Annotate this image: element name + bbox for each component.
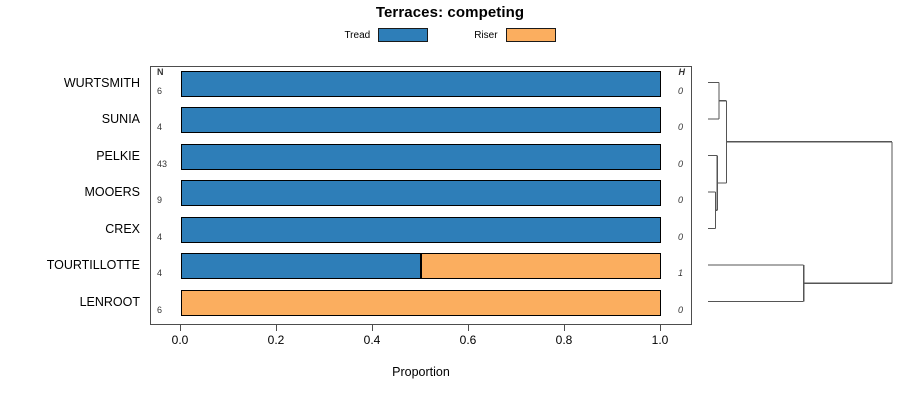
x-axis: 0.00.20.40.60.81.0 [150,325,692,349]
bar-segment-tread[interactable] [181,71,661,97]
h-value: 0 [678,232,683,242]
bar-row[interactable] [181,144,661,170]
category-label-wurtsmith: WURTSMITH [64,76,140,89]
bar-segment-tread[interactable] [181,144,661,170]
n-value: 6 [157,86,179,96]
chart-figure: Terraces: competing TreadRiser WURTSMITH… [0,0,900,400]
legend-item-tread[interactable]: Tread [344,28,428,42]
x-tick-mark [180,325,181,331]
bar-segment-tread[interactable] [181,253,421,279]
n-value: 4 [157,122,179,132]
chart-title: Terraces: competing [0,4,900,21]
h-value: 0 [678,86,683,96]
legend-label: Tread [344,30,370,41]
bar-row[interactable] [181,107,661,133]
legend-swatch [378,28,428,42]
x-tick-mark [660,325,661,331]
bar-row[interactable] [181,217,661,243]
category-label-sunia: SUNIA [102,113,140,126]
bar-segment-riser[interactable] [181,290,661,316]
bar-segment-tread[interactable] [181,107,661,133]
bar-row[interactable] [181,180,661,206]
x-tick-mark [276,325,277,331]
h-value: 0 [678,122,683,132]
x-tick-label: 0.6 [460,333,477,347]
x-tick-mark [372,325,373,331]
category-axis-labels: WURTSMITHSUNIAPELKIEMOOERSCREXTOURTILLOT… [0,66,146,325]
category-label-lenroot: LENROOT [80,295,140,308]
h-column-header: H [679,67,686,77]
legend-label: Riser [474,30,497,41]
bar-row[interactable] [181,253,661,279]
h-value: 0 [678,305,683,315]
h-value: 1 [678,268,683,278]
n-value: 43 [157,159,179,169]
plot-panel: NH604043090404160 [150,66,692,325]
h-value: 0 [678,159,683,169]
bar-row[interactable] [181,71,661,97]
category-label-mooers: MOOERS [84,186,140,199]
chart-legend: TreadRiser [0,28,900,42]
x-tick-mark [564,325,565,331]
category-label-crex: CREX [105,222,140,235]
h-value: 0 [678,195,683,205]
x-tick-label: 0.0 [172,333,189,347]
x-tick-label: 1.0 [652,333,669,347]
x-tick-label: 0.8 [556,333,573,347]
category-label-tourtillotte: TOURTILLOTTE [47,259,140,272]
x-tick-label: 0.2 [268,333,285,347]
x-axis-label: Proportion [150,365,692,379]
n-value: 6 [157,305,179,315]
bar-row[interactable] [181,290,661,316]
category-label-pelkie: PELKIE [96,149,140,162]
n-column-header: N [157,67,164,77]
bar-segment-riser[interactable] [421,253,661,279]
n-value: 9 [157,195,179,205]
n-value: 4 [157,232,179,242]
dendrogram [700,66,900,325]
x-tick-mark [468,325,469,331]
legend-item-riser[interactable]: Riser [474,28,555,42]
x-tick-label: 0.4 [364,333,381,347]
legend-swatch [506,28,556,42]
bar-segment-tread[interactable] [181,217,661,243]
n-value: 4 [157,268,179,278]
bar-segment-tread[interactable] [181,180,661,206]
